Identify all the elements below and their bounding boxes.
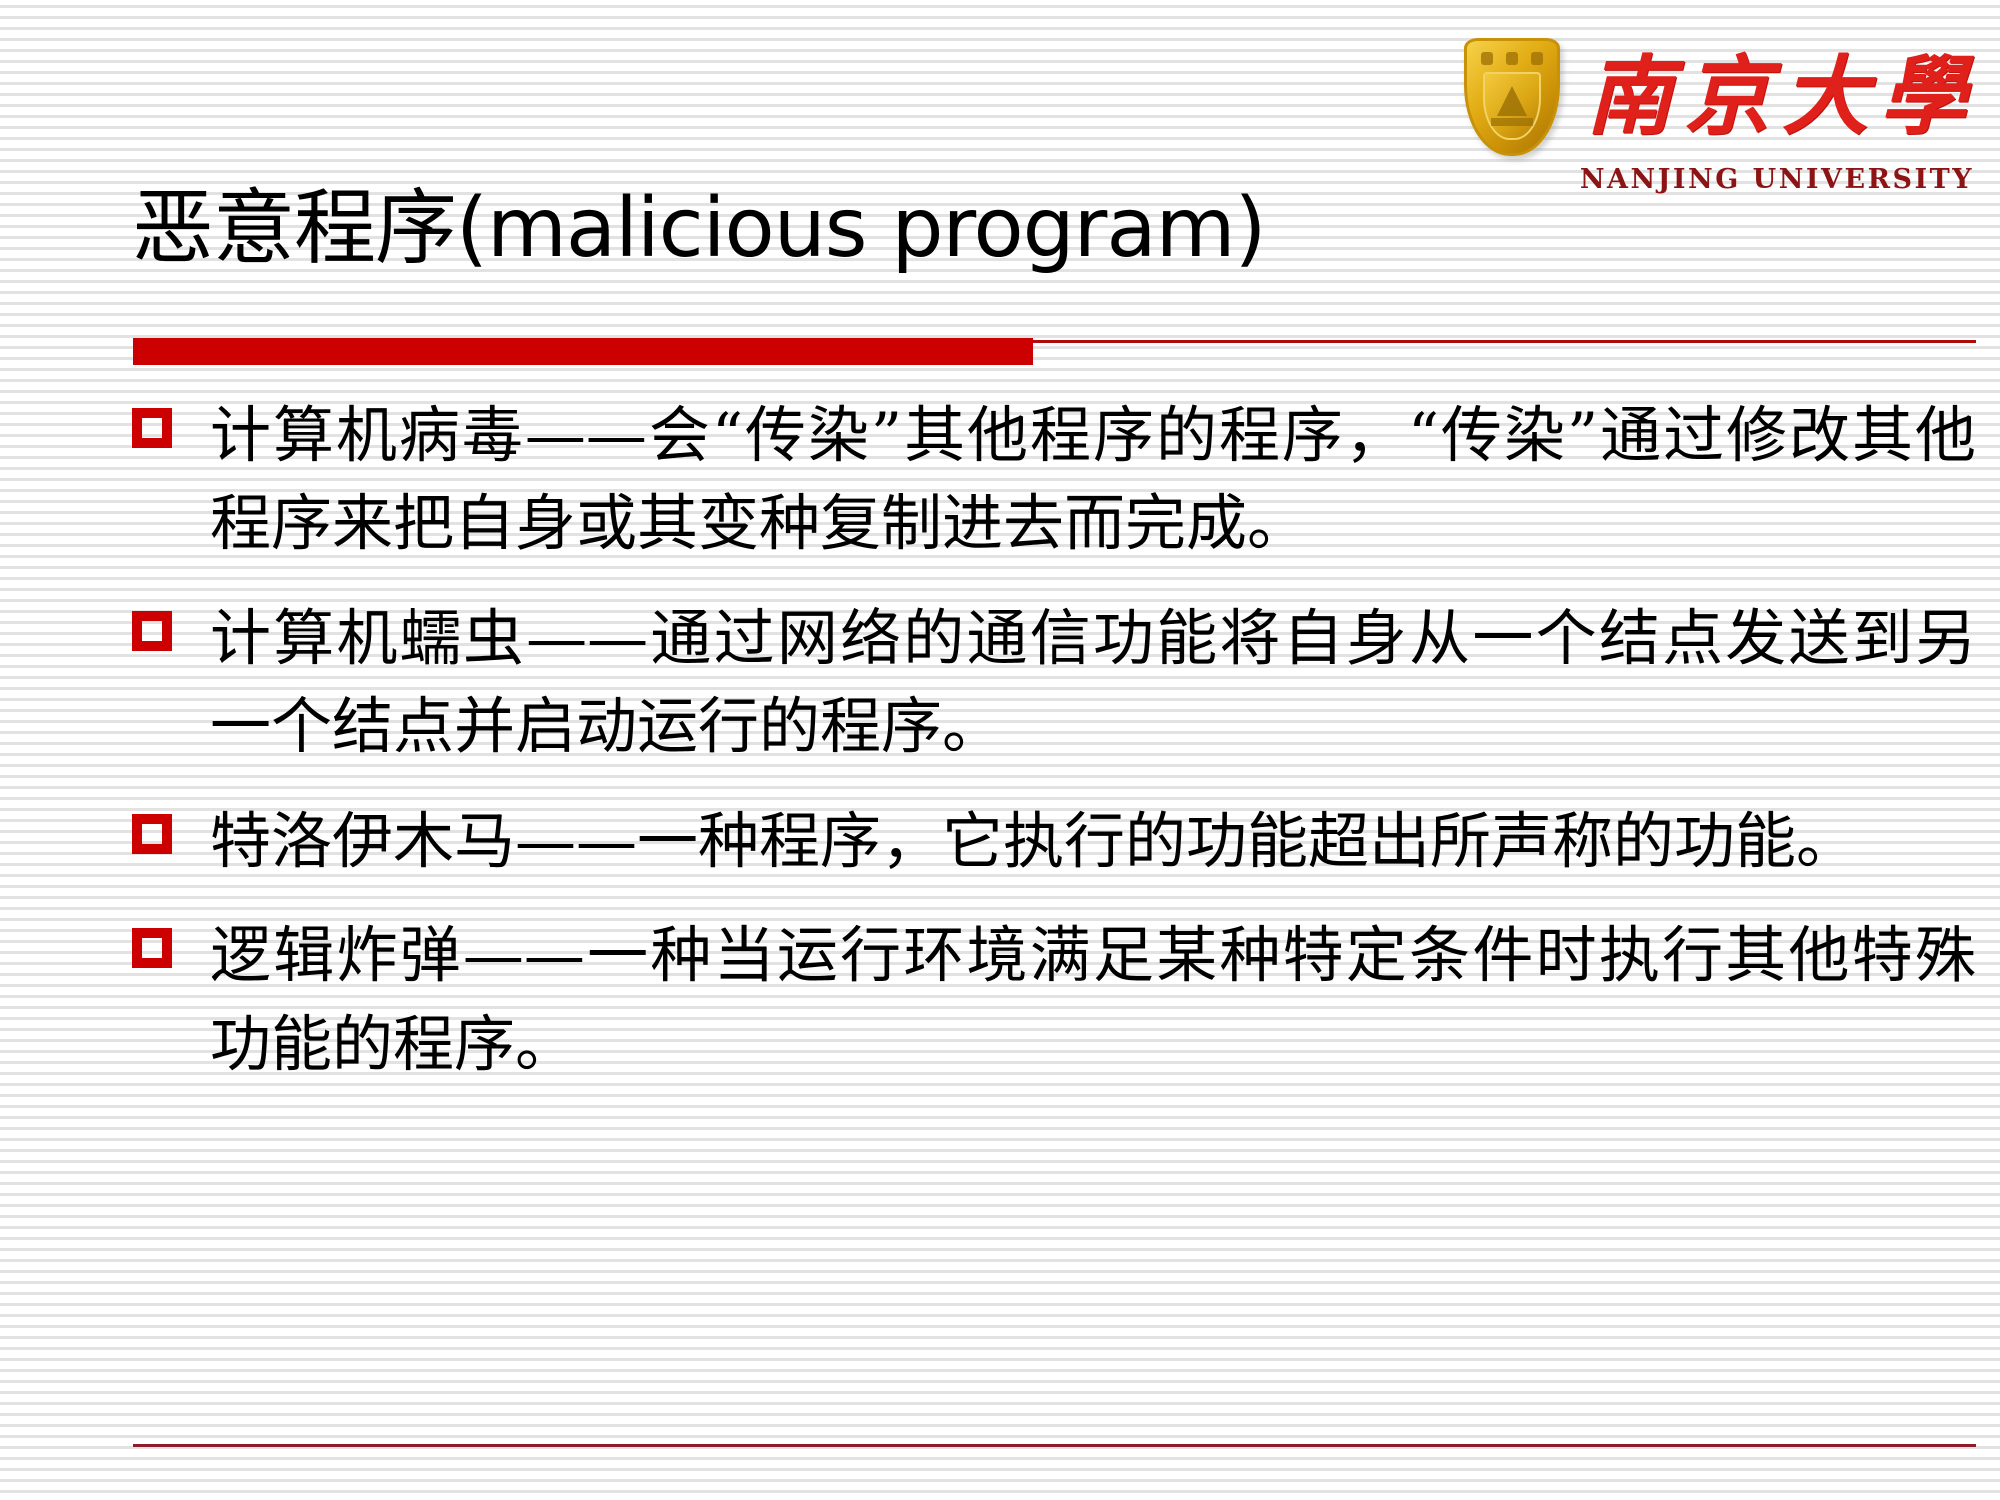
list-item: 特洛伊木马——一种程序，它执行的功能超出所声称的功能。: [132, 798, 1976, 886]
crest-base-bar: [1491, 118, 1533, 126]
slide-canvas: 南京大學 NANJING UNIVERSITY 恶意程序(malicious p…: [0, 0, 2000, 1500]
square-bullet-icon: [132, 611, 172, 651]
slide-title: 恶意程序(malicious program): [132, 186, 1266, 272]
square-bullet-icon: [132, 814, 172, 854]
university-chinese-name: 南京大學: [1586, 54, 1978, 140]
crest-ornament: [1531, 52, 1543, 65]
university-english-name: NANJING UNIVERSITY: [1580, 164, 1974, 195]
nanjing-university-crest-icon: [1464, 38, 1560, 156]
list-item-text: 计算机蠕虫——通过网络的通信功能将自身从一个结点发送到另一个结点并启动运行的程序…: [210, 595, 1976, 772]
square-bullet-icon: [132, 928, 172, 968]
square-bullet-icon: [132, 408, 172, 448]
list-item: 计算机病毒——会“传染”其他程序的程序，“传染”通过修改其他程序来把自身或其变种…: [132, 392, 1976, 569]
title-thick-rule: [133, 338, 1033, 365]
crest-mountain-icon: [1497, 86, 1527, 116]
footer-rule: [133, 1444, 1976, 1447]
crest-ornament: [1481, 52, 1493, 65]
crest-top-ornaments: [1474, 48, 1550, 68]
bullet-list: 计算机病毒——会“传染”其他程序的程序，“传染”通过修改其他程序来把自身或其变种…: [132, 392, 1976, 1115]
list-item: 计算机蠕虫——通过网络的通信功能将自身从一个结点发送到另一个结点并启动运行的程序…: [132, 595, 1976, 772]
list-item-text: 特洛伊木马——一种程序，它执行的功能超出所声称的功能。: [210, 798, 1976, 886]
university-logo-block: 南京大學 NANJING UNIVERSITY: [1464, 38, 1978, 195]
list-item: 逻辑炸弹——一种当运行环境满足某种特定条件时执行其他特殊功能的程序。: [132, 912, 1976, 1089]
list-item-text: 计算机病毒——会“传染”其他程序的程序，“传染”通过修改其他程序来把自身或其变种…: [210, 392, 1976, 569]
crest-ornament: [1506, 52, 1518, 65]
list-item-text: 逻辑炸弹——一种当运行环境满足某种特定条件时执行其他特殊功能的程序。: [210, 912, 1976, 1089]
logo-row: 南京大學: [1464, 38, 1978, 156]
